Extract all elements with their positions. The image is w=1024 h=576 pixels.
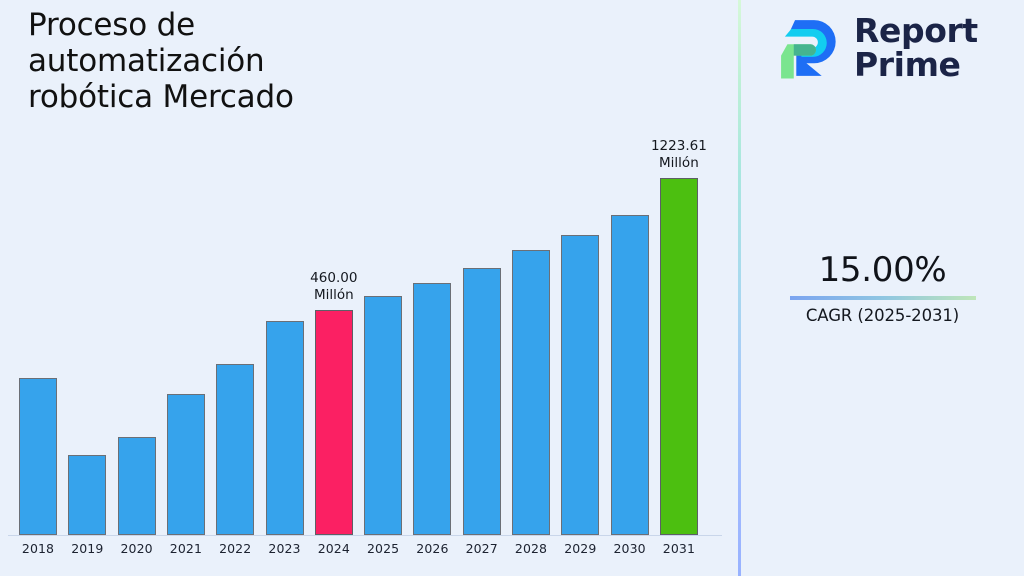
bar-2019 [68,455,106,535]
bar-2026 [413,283,451,535]
report-prime-logo-icon [777,15,841,81]
bar-value-label-2031: 1223.61 Millón [619,138,739,171]
bar-2028 [512,250,550,535]
x-tick-2023: 2023 [266,541,304,556]
bar-2031 [660,178,698,535]
x-tick-2027: 2027 [463,541,501,556]
bar-2024 [315,310,353,535]
bar-2022 [216,364,254,535]
x-tick-2026: 2026 [413,541,451,556]
bar-2021 [167,394,205,535]
cagr-block: 15.00% CAGR (2025-2031) [741,252,1024,325]
bar-2018 [19,378,57,535]
x-tick-2024: 2024 [315,541,353,556]
x-tick-2021: 2021 [167,541,205,556]
x-tick-2028: 2028 [512,541,550,556]
x-tick-2020: 2020 [118,541,156,556]
bar-2020 [118,437,156,535]
x-tick-2019: 2019 [68,541,106,556]
cagr-caption: CAGR (2025-2031) [741,306,1024,325]
x-axis-line [8,535,722,536]
bar-2025 [364,296,402,535]
x-tick-2022: 2022 [216,541,254,556]
x-tick-2029: 2029 [561,541,599,556]
bar-2030 [611,215,649,535]
x-tick-2030: 2030 [611,541,649,556]
x-tick-2031: 2031 [660,541,698,556]
bar-2029 [561,235,599,535]
cagr-value: 15.00% [741,252,1024,289]
cagr-divider-rule [790,296,976,300]
chart-panel: Proceso de automatización robótica Merca… [0,0,738,576]
brand-panel: Report Prime 15.00% CAGR (2025-2031) [741,0,1024,576]
chart-infographic: Proceso de automatización robótica Merca… [0,0,1024,576]
brand-logo: Report Prime [777,14,978,81]
x-tick-2025: 2025 [364,541,402,556]
x-tick-2018: 2018 [19,541,57,556]
bar-2027 [463,268,501,535]
brand-wordmark: Report Prime [854,14,978,81]
bar-2023 [266,321,304,535]
bar-chart-plot: 460.00 Millón1223.61 Millón 201820192020… [0,0,738,576]
